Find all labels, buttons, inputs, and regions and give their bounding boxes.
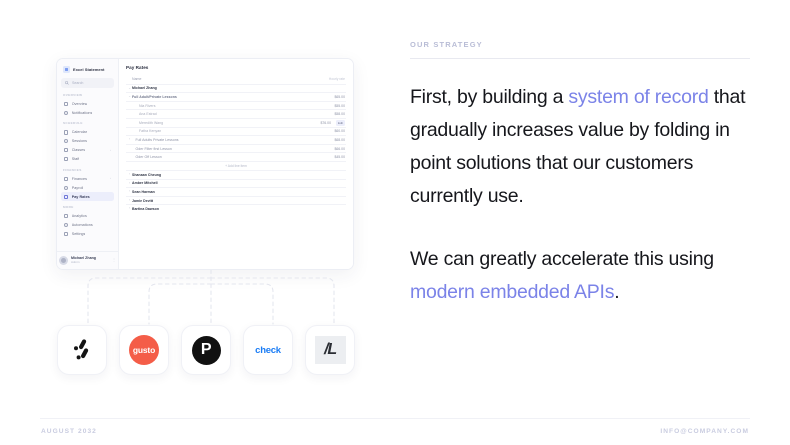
app-logo-icon <box>63 66 70 73</box>
sidebar-item-sessions[interactable]: Sessions <box>61 137 114 146</box>
column-header-name: Name <box>132 77 142 81</box>
table-row[interactable]: ›Shanaan Cheung <box>126 170 346 179</box>
footer-contact: INFO@COMPANY.COM <box>660 428 749 435</box>
sidebar-item-calendar[interactable]: Calendar <box>61 128 114 137</box>
footer-divider <box>40 418 750 419</box>
row-amount: $65.00 <box>334 95 345 99</box>
sidebar-item-label: Automations <box>72 223 93 227</box>
lever-logo-icon: /L <box>315 336 346 364</box>
sidebar-item-staff[interactable]: Staff <box>61 155 114 164</box>
grid-icon <box>64 102 68 106</box>
mockup-sidebar: Excel Statement Search OverviewOverviewN… <box>57 59 119 269</box>
nav-group: OverviewOverviewNotifications <box>61 93 114 117</box>
search-icon <box>65 81 69 85</box>
sidebar-item-label: Analytics <box>72 214 87 218</box>
row-name: Full Adult/Private Lessons <box>132 95 177 99</box>
gear-icon <box>64 232 68 236</box>
patriot-logo-icon: P <box>192 336 221 365</box>
gusto-wordmark: gusto <box>133 345 155 355</box>
connector-lines <box>56 270 366 326</box>
mockup-main-panel: Pay Rates Name Hourly rate ⌄Michael Zhan… <box>119 59 353 269</box>
nav-group: ScheduleCalendarSessionsClasses›Staff <box>61 121 114 163</box>
nav-group-heading: Overview <box>61 93 114 100</box>
sidebar-item-label: Overview <box>72 102 88 106</box>
footer-date: AUGUST 2032 <box>41 428 97 435</box>
logo-tile-rippling[interactable] <box>57 325 107 375</box>
body-copy: First, by building a system of record th… <box>410 81 750 309</box>
row-amount: $76.00 <box>320 121 331 125</box>
row-name: Full Adults Private Lessons <box>132 138 179 142</box>
rates-icon <box>64 195 68 199</box>
table-row[interactable]: ›Sean Harman <box>126 187 346 196</box>
p2-accent-link[interactable]: modern embedded APIs <box>410 281 614 303</box>
mockup-search-input[interactable]: Search <box>61 78 114 88</box>
search-placeholder: Search <box>72 81 83 85</box>
logo-tile-patriot[interactable]: P <box>181 325 231 375</box>
eyebrow-divider <box>410 58 750 59</box>
table-row[interactable]: Nia Rivers$55.00 <box>126 101 346 110</box>
row-amount: $66.00 <box>334 147 345 151</box>
chart-icon <box>64 214 68 218</box>
bell-icon <box>64 111 68 115</box>
table-row[interactable]: Oder Off Lesson$45.00 <box>126 152 346 161</box>
sidebar-item-label: Calendar <box>72 130 87 134</box>
bank-icon <box>64 177 68 181</box>
nav-group-heading: More <box>61 205 114 212</box>
row-name: Ana Estrad <box>132 112 157 116</box>
check-wordmark: check <box>255 345 281 356</box>
row-name: Oder Off Lesson <box>132 155 162 159</box>
sidebar-item-label: Sessions <box>72 139 87 143</box>
paragraph-1: First, by building a system of record th… <box>410 81 750 213</box>
table-row[interactable]: ›Bartina Dawson <box>126 204 346 213</box>
mockup-nav: OverviewOverviewNotificationsScheduleCal… <box>61 93 114 243</box>
row-name: Amber Mitchell <box>132 181 158 185</box>
row-edit-badge[interactable]: Edit <box>336 120 345 126</box>
app-mockup: Excel Statement Search OverviewOverviewN… <box>56 58 354 270</box>
nav-group: MoreAnalyticsAutomationsSettings <box>61 205 114 238</box>
table-row[interactable]: Fatha Kenyan$60.00 <box>126 127 346 136</box>
column-header-amount: Hourly rate <box>329 77 345 81</box>
logo-tile-check[interactable]: check <box>243 325 293 375</box>
paragraph-gap <box>410 213 750 243</box>
partner-logo-row: gusto P check /L <box>57 325 367 375</box>
nav-group: FinancesFinances›PayrollPay Rates <box>61 168 114 201</box>
row-name: Meredith Wang <box>132 121 163 125</box>
p2-part2: . <box>614 281 619 303</box>
row-amount: $55.00 <box>334 104 345 108</box>
p1-part1: First, by building a <box>410 86 568 108</box>
user-role: Admin <box>71 261 96 265</box>
user-icon <box>64 157 68 161</box>
clock-icon <box>64 139 68 143</box>
avatar <box>59 256 68 265</box>
sidebar-item-finances[interactable]: Finances› <box>61 174 114 183</box>
table-row[interactable]: Meredith Wang$76.00Edit <box>126 118 346 127</box>
sidebar-item-label: Settings <box>72 232 86 236</box>
row-amount: $68.00 <box>334 138 345 142</box>
paragraph-2: We can greatly accelerate this using mod… <box>410 243 750 309</box>
sidebar-item-label: Notifications <box>72 111 93 115</box>
payroll-icon <box>64 186 68 190</box>
table-row[interactable]: ›Amber Mitchell <box>126 179 346 188</box>
connector-4 <box>211 284 273 324</box>
sidebar-item-label: Classes <box>72 148 85 152</box>
row-amount: $58.00 <box>334 112 345 116</box>
page-title: Pay Rates <box>119 59 353 75</box>
sidebar-item-payroll[interactable]: Payroll <box>61 183 114 192</box>
table-row[interactable]: ⌄Michael Zhang <box>126 84 346 93</box>
connector-2 <box>149 284 211 324</box>
row-amount: $45.00 <box>334 155 345 159</box>
p1-accent-link[interactable]: system of record <box>568 86 708 108</box>
row-name: Fatha Kenyan <box>132 129 161 133</box>
user-menu-icon[interactable]: ⋮ <box>112 259 116 261</box>
table-row[interactable]: ›Jamie Devitt <box>126 196 346 205</box>
row-name: Oder Filter first Lesson <box>132 147 172 151</box>
sidebar-item-settings[interactable]: Settings <box>61 230 114 239</box>
sidebar-item-label: Payroll <box>72 186 84 190</box>
sidebar-item-label: Finances <box>72 177 87 181</box>
lever-monogram: /L <box>324 342 336 358</box>
calendar-icon <box>64 130 68 134</box>
row-name: Nia Rivers <box>132 104 156 108</box>
presentation-slide: Excel Statement Search OverviewOverviewN… <box>0 0 790 445</box>
sidebar-item-overview[interactable]: Overview <box>61 100 114 109</box>
p2-part1: We can greatly accelerate this using <box>410 248 714 270</box>
chevron-right-icon[interactable]: › <box>110 149 111 152</box>
sidebar-spacer <box>61 243 114 251</box>
table-row[interactable]: ⌄Full Adult/Private Lessons$65.00 <box>126 92 346 101</box>
add-line-item-button[interactable]: + Add line item <box>126 161 346 170</box>
pay-rates-table: Name Hourly rate ⌄Michael Zhang⌄Full Adu… <box>119 75 353 213</box>
sidebar-item-notifications[interactable]: Notifications <box>61 108 114 117</box>
nav-group-heading: Schedule <box>61 121 114 128</box>
class-icon <box>64 148 68 152</box>
sidebar-user-card[interactable]: Michael Zhang Admin ⋮ <box>57 251 118 269</box>
table-row[interactable]: Ana Estrad$58.00 <box>126 109 346 118</box>
rippling-logo-icon <box>70 338 94 362</box>
row-amount: $60.00 <box>334 129 345 133</box>
patriot-monogram: P <box>201 342 211 358</box>
logo-tile-gusto[interactable]: gusto <box>119 325 169 375</box>
section-eyebrow: OUR STRATEGY <box>410 40 750 49</box>
table-header-row: Name Hourly rate <box>126 75 346 84</box>
logo-tile-lever[interactable]: /L <box>305 325 355 375</box>
sidebar-item-label: Pay Rates <box>72 195 90 199</box>
row-name: Sean Harman <box>132 190 155 194</box>
strategy-text-column: OUR STRATEGY First, by building a system… <box>410 40 750 309</box>
gusto-logo-icon: gusto <box>129 335 159 365</box>
mockup-brand: Excel Statement <box>61 64 114 78</box>
row-name: Michael Zhang <box>132 86 157 90</box>
row-name: Bartina Dawson <box>132 207 159 211</box>
sidebar-item-analytics[interactable]: Analytics <box>61 212 114 221</box>
chevron-right-icon[interactable]: › <box>110 177 111 180</box>
row-name: Jamie Devitt <box>132 199 153 203</box>
bolt-icon <box>64 223 68 227</box>
sidebar-item-label: Staff <box>72 157 80 161</box>
table-row[interactable]: ›Full Adults Private Lessons$68.00 <box>126 135 346 144</box>
sidebar-item-classes[interactable]: Classes› <box>61 146 114 155</box>
sidebar-item-automations[interactable]: Automations <box>61 221 114 230</box>
row-name: Shanaan Cheung <box>132 173 161 177</box>
sidebar-item-pay-rates[interactable]: Pay Rates <box>61 192 114 201</box>
table-row[interactable]: Oder Filter first Lesson$66.00 <box>126 144 346 153</box>
app-brand-name: Excel Statement <box>73 67 105 72</box>
